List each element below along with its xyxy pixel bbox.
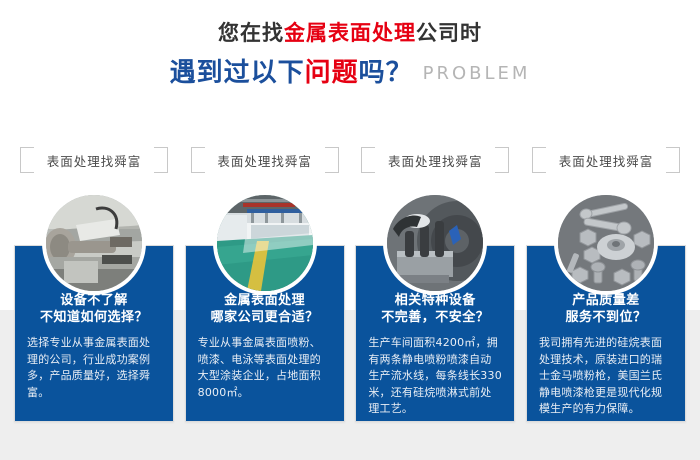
card-description: 选择专业从事金属表面处理的公司，行业成功案例多，产品质量好，选择舜富。: [27, 335, 161, 401]
bracket-corner-top-right-icon: [325, 147, 339, 160]
card-title: 相关特种设备 不完善，不安全？: [368, 292, 502, 326]
bracket-corner-bottom-left-icon: [532, 160, 546, 173]
bracket-corner-bottom-right-icon: [666, 160, 680, 173]
heading-line1-highlight: 金属表面处理: [284, 21, 416, 45]
card-title-line-2: 服务不到位？: [539, 309, 673, 326]
card-tag-bracket: 表面处理找舜富: [532, 145, 680, 175]
lathe-machining-photo: [46, 195, 142, 291]
bracket-corner-bottom-left-icon: [20, 160, 34, 173]
bolts-nuts-photo: [558, 195, 654, 291]
card-photo-frame: [42, 191, 146, 295]
factory-workshop-photo: [217, 195, 313, 291]
card-description: 我司拥有先进的硅烷表面处理技术，原装进口的瑞士金马喷粉枪，美国兰氏静电喷漆枪更是…: [539, 335, 673, 418]
heading-line-1: 您在找金属表面处理公司时: [0, 18, 700, 48]
card-tag-label: 表面处理找舜富: [388, 151, 483, 170]
heading-english-label: PROBLEM: [423, 63, 531, 84]
card-title: 金属表面处理 哪家公司更合适？: [198, 292, 332, 326]
bracket-corner-bottom-left-icon: [361, 160, 375, 173]
heading-line1-prefix: 您在找: [218, 21, 284, 45]
card-title: 设备不了解 不知道如何选择？: [27, 292, 161, 326]
heading-line2-highlight: 问题: [305, 58, 359, 88]
bracket-corner-bottom-right-icon: [325, 160, 339, 173]
card-description: 生产车间面积4200㎡，拥有两条静电喷粉喷漆自动生产流水线，每条线长330米，还…: [368, 335, 502, 418]
card-photo-frame: [383, 191, 487, 295]
bracket-corner-top-right-icon: [154, 147, 168, 160]
card-tag-bracket: 表面处理找舜富: [20, 145, 168, 175]
bracket-corner-top-left-icon: [532, 147, 546, 160]
card-title-line-2: 哪家公司更合适？: [198, 309, 332, 326]
bracket-corner-top-left-icon: [20, 147, 34, 160]
bracket-corner-top-right-icon: [495, 147, 509, 160]
heading-line2-suffix: 吗？: [359, 58, 413, 88]
card-tag-label: 表面处理找舜富: [217, 151, 312, 170]
card-title-line-2: 不完善，不安全？: [368, 309, 502, 326]
bracket-corner-bottom-right-icon: [154, 160, 168, 173]
page-heading: 您在找金属表面处理公司时 遇到过以下问题吗？PROBLEM: [0, 18, 700, 92]
bracket-corner-bottom-right-icon: [495, 160, 509, 173]
problem-card[interactable]: 表面处理找舜富 产品质量差 服务不到位？ 我司拥有先进的硅烷表面处理技术，原装进…: [526, 145, 686, 435]
card-photo-frame: [213, 191, 317, 295]
problem-card[interactable]: 表面处理找舜富 金属表面处理 哪家公司更合适？ 专业从事金属表面喷粉、喷漆、电泳…: [185, 145, 345, 435]
card-tag-label: 表面处理找舜富: [47, 151, 142, 170]
problem-card[interactable]: 表面处理找舜富 设备不了解 不知道如何选择？ 选择专业从事金属表面处理的公司，行…: [14, 145, 174, 435]
card-description: 专业从事金属表面喷粉、喷漆、电泳等表面处理的大型涂装企业，占地面积8000㎡。: [198, 335, 332, 401]
heading-line2-prefix: 遇到过以下: [170, 58, 305, 88]
bracket-corner-top-left-icon: [191, 147, 205, 160]
problem-card-list: 表面处理找舜富 设备不了解 不知道如何选择？ 选择专业从事金属表面处理的公司，行…: [14, 145, 686, 435]
promo-banner: 您在找金属表面处理公司时 遇到过以下问题吗？PROBLEM 表面处理找舜富 设备…: [0, 0, 700, 460]
bracket-corner-top-right-icon: [666, 147, 680, 160]
heading-line1-suffix: 公司时: [416, 21, 482, 45]
problem-card[interactable]: 表面处理找舜富 相关特种设备 不完善，不安全？ 生产车间面积4200㎡，拥有两条…: [355, 145, 515, 435]
card-tag-bracket: 表面处理找舜富: [191, 145, 339, 175]
card-photo-frame: [554, 191, 658, 295]
heading-line-2: 遇到过以下问题吗？PROBLEM: [0, 55, 700, 92]
metal-fixtures-photo: [387, 195, 483, 291]
bracket-corner-bottom-left-icon: [191, 160, 205, 173]
card-tag-bracket: 表面处理找舜富: [361, 145, 509, 175]
card-title: 产品质量差 服务不到位？: [539, 292, 673, 326]
bracket-corner-top-left-icon: [361, 147, 375, 160]
card-title-line-2: 不知道如何选择？: [27, 309, 161, 326]
card-tag-label: 表面处理找舜富: [559, 151, 654, 170]
